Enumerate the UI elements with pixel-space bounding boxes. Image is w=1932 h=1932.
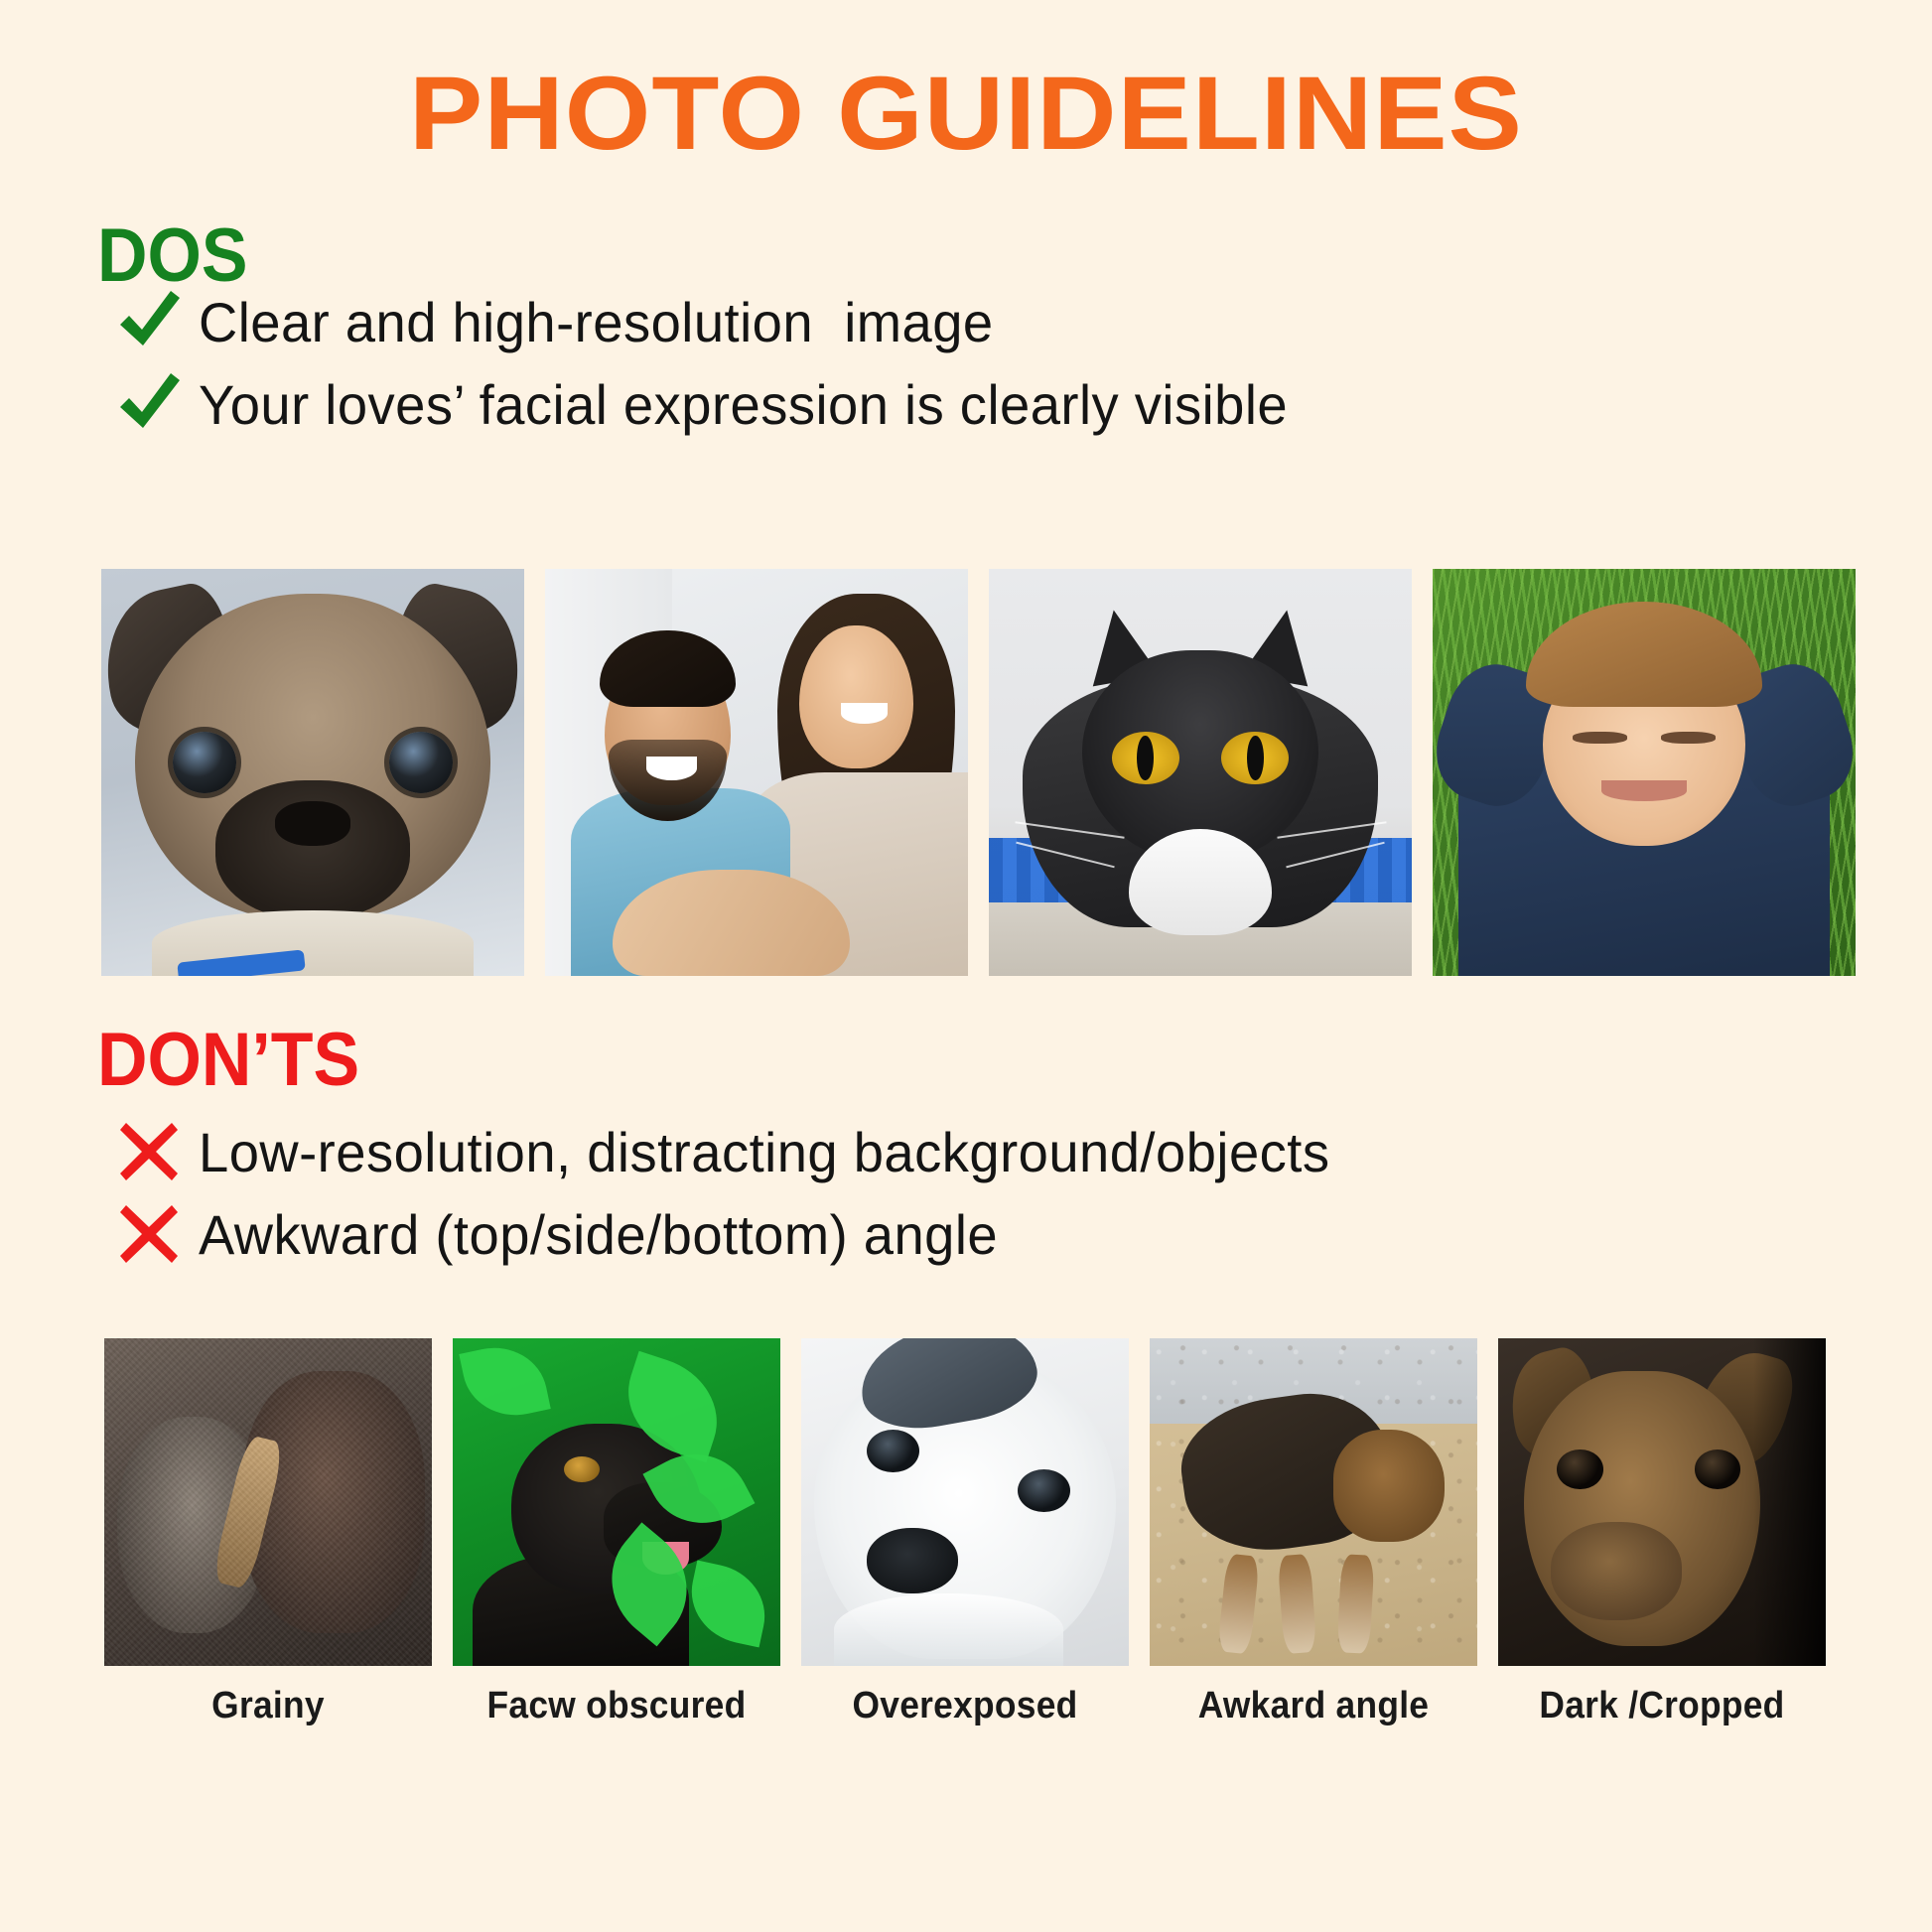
donts-heading: DON’TS: [97, 1023, 359, 1098]
dos-photo-boy: [1433, 569, 1856, 976]
page-title: PHOTO GUIDELINES: [0, 60, 1932, 169]
dont-photo-awkward-angle: [1150, 1338, 1477, 1666]
dos-photo-row: [101, 569, 1856, 976]
dont-item-1: Low-resolution, distracting background/o…: [99, 1117, 1365, 1186]
dos-item-2-label: Your loves’ facial expression is clearly…: [199, 372, 1288, 437]
dont-photo-dark-cropped: [1498, 1338, 1826, 1666]
dos-photo-cat: [989, 569, 1412, 976]
dos-item-1: Clear and high-resolution image: [99, 283, 1018, 360]
donts-photo-row: [104, 1338, 1826, 1666]
dos-item-2: Your loves’ facial expression is clearly…: [99, 365, 1321, 443]
dont-item-1-label: Low-resolution, distracting background/o…: [199, 1120, 1330, 1184]
dont-photo-overexposed: [801, 1338, 1129, 1666]
caption-face-obscured: Facw obscured: [465, 1685, 769, 1727]
dont-photo-face-obscured: [453, 1338, 780, 1666]
dos-photo-couple: [545, 569, 968, 976]
photo-guidelines-page: PHOTO GUIDELINES DOS Clear and high-reso…: [0, 0, 1932, 1932]
dont-item-2-label: Awkward (top/side/bottom) angle: [199, 1202, 998, 1267]
dont-item-2: Awkward (top/side/bottom) angle: [99, 1199, 1023, 1269]
cross-icon: [99, 1117, 199, 1186]
dont-photo-grainy: [104, 1338, 432, 1666]
caption-dark-cropped: Dark /Cropped: [1510, 1685, 1815, 1727]
dos-photo-pug-puppy: [101, 569, 524, 976]
check-icon: [99, 283, 199, 360]
caption-awkward-angle: Awkard angle: [1162, 1685, 1466, 1727]
dos-item-1-label: Clear and high-resolution image: [199, 290, 994, 354]
cross-icon: [99, 1199, 199, 1269]
check-icon: [99, 365, 199, 443]
caption-overexposed: Overexposed: [813, 1685, 1118, 1727]
donts-caption-row: Grainy Facw obscured Overexposed Awkard …: [104, 1685, 1826, 1727]
caption-grainy: Grainy: [116, 1685, 421, 1727]
